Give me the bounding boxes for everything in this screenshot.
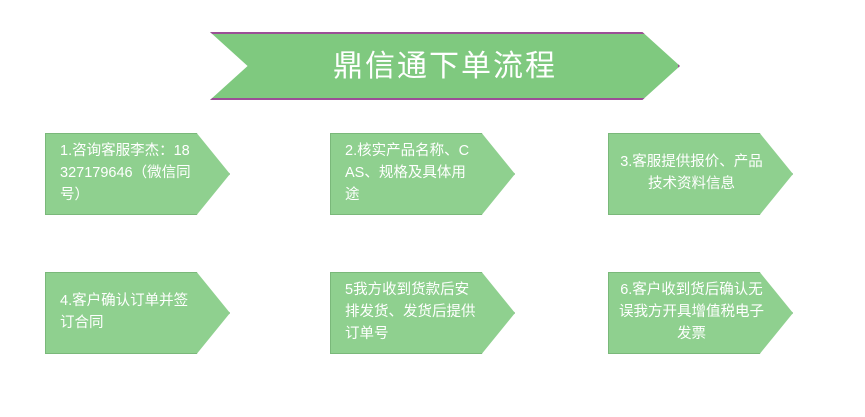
flow-step-5: 5我方收到货款后安排发货、发货后提供订单号 [330,272,515,354]
flow-step-3-label: 3.客服提供报价、产品技术资料信息 [609,152,792,196]
flow-step-1: 1.咨询客服李杰：18327179646（微信同号） [45,133,230,215]
flow-step-4-label: 4.客户确认订单并签订合同 [46,291,229,335]
flow-step-2-label: 2.核实产品名称、CAS、规格及具体用途 [331,141,514,206]
flowchart-canvas: 鼎信通下单流程 1.咨询客服李杰：18327179646（微信同号） 2.核实产… [0,0,865,417]
flow-step-6-label: 6.客户收到货后确认无误我方开具增值税电子发票 [609,280,792,345]
diagram-title-banner: 鼎信通下单流程 [210,32,680,100]
flow-step-6: 6.客户收到货后确认无误我方开具增值税电子发票 [608,272,793,354]
flow-step-5-label: 5我方收到货款后安排发货、发货后提供订单号 [331,280,514,345]
flow-step-1-label: 1.咨询客服李杰：18327179646（微信同号） [46,141,229,206]
flow-step-2: 2.核实产品名称、CAS、规格及具体用途 [330,133,515,215]
flow-step-4: 4.客户确认订单并签订合同 [45,272,230,354]
flow-step-3: 3.客服提供报价、产品技术资料信息 [608,133,793,215]
diagram-title-text: 鼎信通下单流程 [333,50,557,83]
